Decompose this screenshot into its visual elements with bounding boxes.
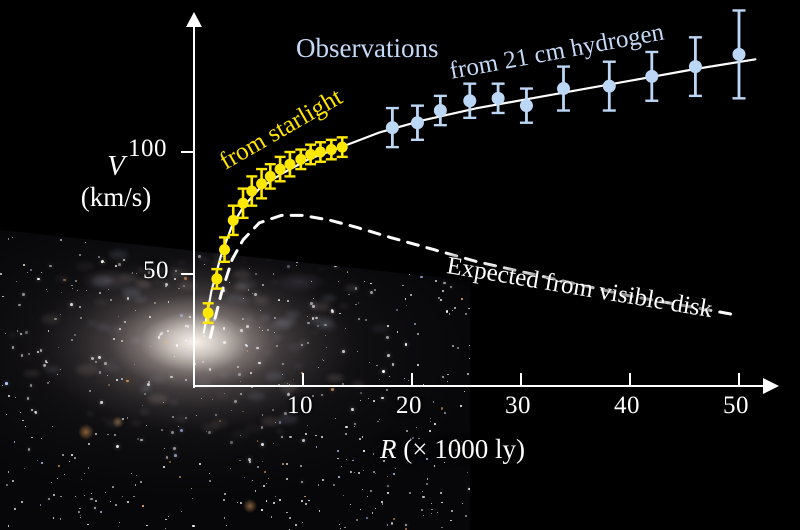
data-point-starlight [284,159,295,170]
data-point-starlight [256,178,267,189]
x-tick-label-40: 40 [614,392,640,420]
x-tick-label-50: 50 [723,392,749,420]
y-axis-unit: (km/s) [56,182,176,212]
data-point-hydrogen [463,94,476,107]
data-point-hydrogen [520,99,533,112]
data-point-hydrogen [434,104,447,117]
data-point-starlight [337,142,348,153]
data-point-starlight [211,273,222,284]
x-axis-arrow [763,378,779,394]
x-axis-symbol: R [380,434,397,464]
y-axis-symbol: V [56,150,176,182]
x-axis-line [193,385,776,387]
y-tick-label-50: 50 [143,257,169,285]
label-observations: Observations [296,33,438,64]
data-point-hydrogen [733,48,746,61]
data-point-hydrogen [411,116,424,129]
data-point-starlight [305,149,316,160]
x-tick-10 [302,373,304,386]
x-tick-50 [738,373,740,386]
data-point-starlight [295,154,306,165]
data-point-starlight [219,244,230,255]
data-point-hydrogen [603,80,616,93]
data-point-starlight [228,215,239,226]
data-point-starlight [315,147,326,158]
data-point-starlight [326,144,337,155]
data-point-hydrogen [386,121,399,134]
x-tick-20 [411,373,413,386]
x-tick-40 [629,373,631,386]
data-point-hydrogen [645,70,658,83]
data-point-starlight [238,198,249,209]
y-axis-arrow [186,12,202,27]
rotation-curve-figure: 102030405050100 V (km/s) R (× 1000 ly) O… [0,0,800,530]
data-point-hydrogen [557,82,570,95]
data-point-starlight [203,308,214,319]
x-tick-label-30: 30 [505,392,531,420]
data-point-hydrogen [492,92,505,105]
y-axis-line [193,24,195,388]
data-point-hydrogen [689,60,702,73]
x-axis-unit: (× 1000 ly) [403,434,525,464]
y-axis-title: V (km/s) [56,150,176,213]
x-tick-label-10: 10 [287,392,313,420]
data-point-starlight [246,186,257,197]
y-tick-100 [181,151,194,153]
x-axis-title: R (× 1000 ly) [380,434,525,465]
data-point-starlight [275,164,286,175]
x-tick-label-20: 20 [396,392,422,420]
y-tick-50 [181,273,194,275]
x-tick-30 [520,373,522,386]
data-point-starlight [265,171,276,182]
